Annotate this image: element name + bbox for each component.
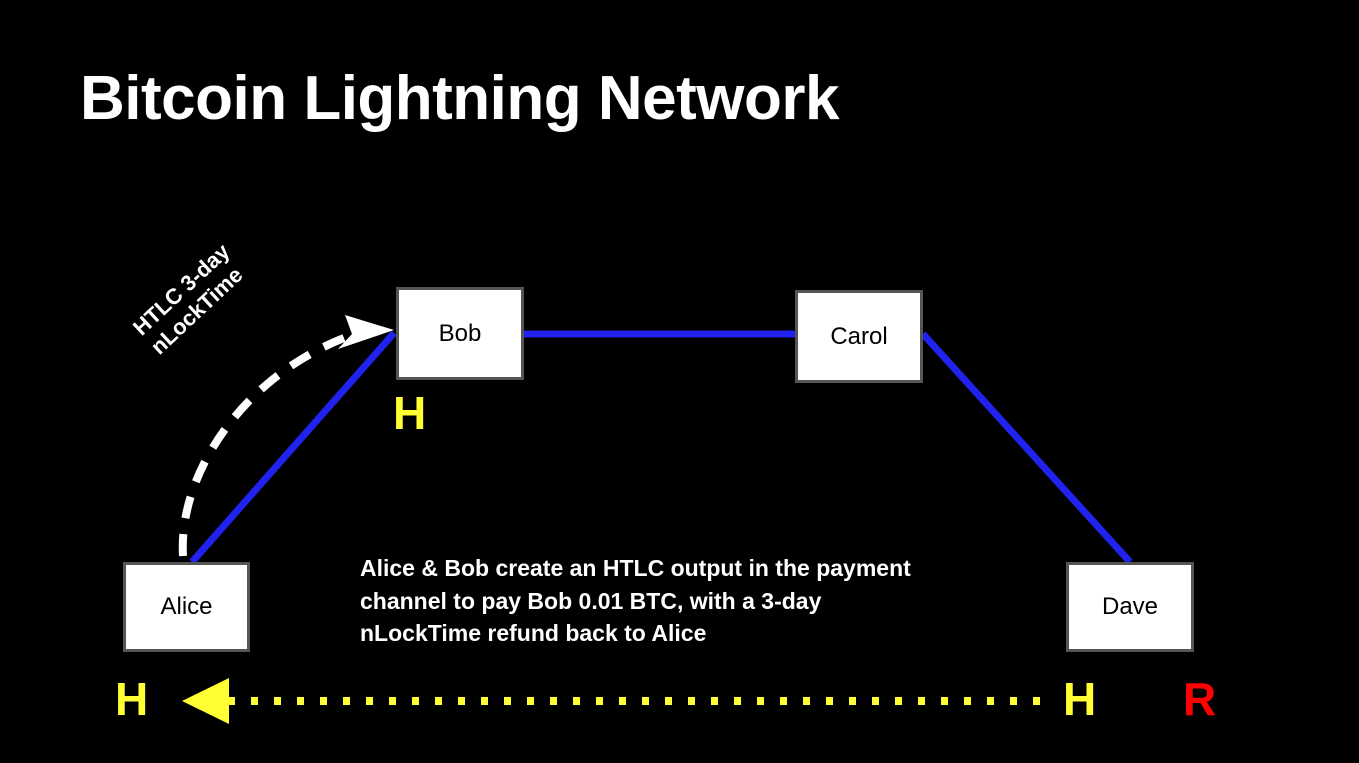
description-line-2: channel to pay Bob 0.01 BTC, with a 3-da… — [360, 585, 980, 618]
description-line-3: nLockTime refund back to Alice — [360, 617, 980, 650]
description-line-1: Alice & Bob create an HTLC output in the… — [360, 552, 980, 585]
htlc-dashed-arrow-path — [183, 335, 352, 556]
node-carol-label: Carol — [830, 325, 887, 349]
page-title: Bitcoin Lightning Network — [80, 66, 839, 131]
node-alice-label: Alice — [160, 595, 212, 619]
node-bob-label: Bob — [439, 322, 482, 346]
preimage-marker-dave: R — [1183, 676, 1216, 722]
hash-marker-dave: H — [1063, 676, 1096, 722]
channel-line-carol-dave — [923, 334, 1130, 562]
node-alice[interactable]: Alice — [123, 562, 250, 652]
hash-marker-alice: H — [115, 676, 148, 722]
node-carol[interactable]: Carol — [795, 290, 923, 383]
settlement-arrow-head — [182, 678, 229, 724]
node-bob[interactable]: Bob — [396, 287, 524, 380]
slide-canvas: Bitcoin Lightning Network Bob Carol Alic… — [0, 0, 1359, 763]
hash-marker-bob: H — [393, 390, 426, 436]
node-dave[interactable]: Dave — [1066, 562, 1194, 652]
description-text: Alice & Bob create an HTLC output in the… — [360, 552, 980, 650]
node-dave-label: Dave — [1102, 595, 1158, 619]
